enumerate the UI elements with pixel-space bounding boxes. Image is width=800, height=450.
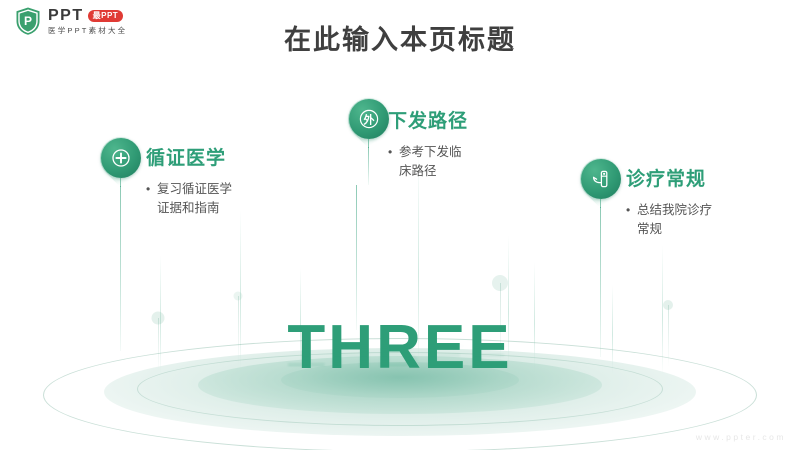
item-2-heading: 下发路径 <box>388 106 468 133</box>
item-1-body-line-2: 证据和指南 <box>146 199 261 218</box>
item-1-heading: 循证医学 <box>146 143 226 170</box>
outpatient-icon[interactable]: 外 <box>349 99 389 139</box>
doctor-checkup-glyph <box>590 168 612 190</box>
item-3-bullet: • <box>626 201 630 220</box>
connector-line-2-lower <box>356 185 357 330</box>
item-3-body-line-1: 总结我院诊疗 <box>626 201 746 220</box>
item-1-body: • 复习循证医学 证据和指南 <box>146 180 261 219</box>
item-2-body: • 参考下发临 床路径 <box>388 143 503 182</box>
item-2-body-line-1: 参考下发临 <box>388 143 503 162</box>
plus-circle-glyph <box>111 148 131 168</box>
item-3-body: • 总结我院诊疗 常规 <box>626 201 746 240</box>
svg-text:外: 外 <box>363 112 375 126</box>
plus-circle-icon[interactable] <box>101 138 141 178</box>
item-2-bullet: • <box>388 143 392 162</box>
item-1-body-line-1: 复习循证医学 <box>146 180 261 199</box>
doctor-checkup-icon[interactable] <box>581 159 621 199</box>
connector-line-3 <box>600 207 601 357</box>
slide-canvas: THREE THREE P PPT 最PPT 医学PPT素材大全 在此输入本页标… <box>0 0 800 450</box>
item-2-body-line-2: 床路径 <box>388 162 503 181</box>
decorative-pin-dot <box>663 300 673 310</box>
connector-line-1 <box>120 186 121 351</box>
site-watermark: www.ppter.com <box>696 432 786 442</box>
item-3-body-line-2: 常规 <box>626 220 746 239</box>
decorative-pin-dot <box>234 292 243 301</box>
item-3-heading: 诊疗常规 <box>626 164 706 191</box>
page-title: 在此输入本页标题 <box>0 18 800 57</box>
outpatient-glyph: 外 <box>358 108 380 130</box>
decorative-pin-dot <box>492 275 508 291</box>
item-1-bullet: • <box>146 180 150 199</box>
